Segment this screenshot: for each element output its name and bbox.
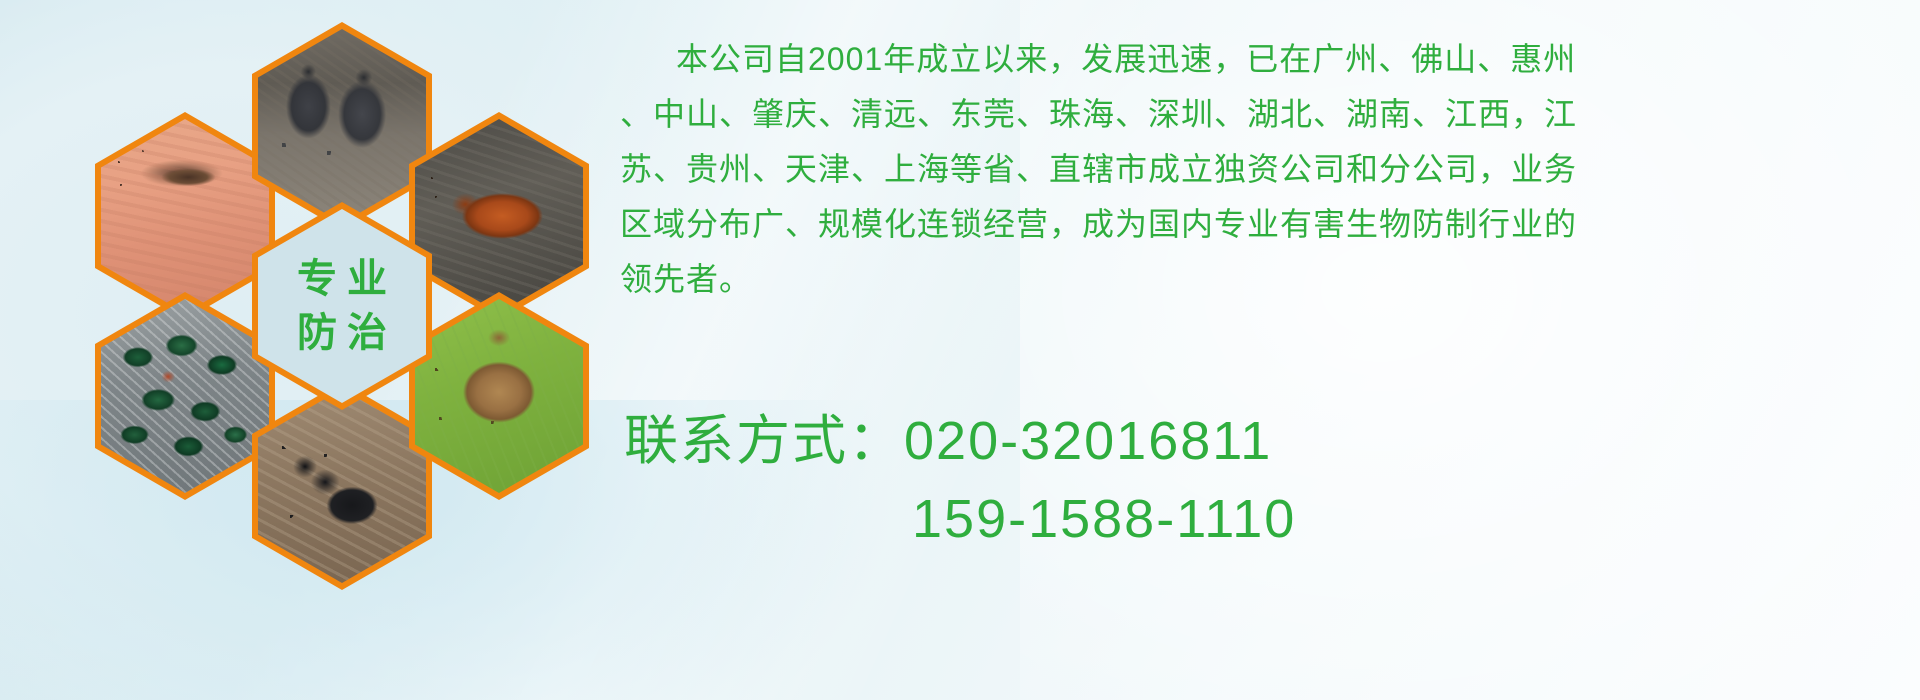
hex-inner-ant — [258, 389, 426, 583]
contact-line-landline[interactable]: 联系方式：020-32016811 — [624, 402, 1824, 480]
intro-line-3: 苏、贵州、天津、上海等省、直辖市成立独资公司和分公司，业务 — [620, 142, 1890, 197]
rats-photo — [258, 29, 426, 223]
logo-line-2: 防治 — [287, 306, 397, 360]
ant-photo — [258, 389, 426, 583]
mosquito-photo — [101, 119, 269, 313]
hex-inner-logo: 专业 防治 — [258, 209, 426, 403]
hex-cell-logo: 专业 防治 — [252, 202, 432, 410]
intro-line-1: 本公司自2001年成立以来，发展迅速，已在广州、佛山、惠州 — [620, 32, 1890, 87]
hex-inner-cockroach — [415, 119, 583, 313]
contact-info: 联系方式：020-32016811 159-1588-1110 — [624, 402, 1824, 558]
pest-control-banner: 专业 防治 本公司自2001年成立以来，发展迅速，已在广州、佛山、惠州 、中山、… — [0, 0, 1920, 700]
hex-cell-flies — [95, 292, 275, 500]
hex-cell-stink-bug — [409, 292, 589, 500]
logo-line-1: 专业 — [287, 252, 397, 306]
hex-cell-cockroach — [409, 112, 589, 320]
hex-inner-mosquito — [101, 119, 269, 313]
stink-bug-photo — [415, 299, 583, 493]
hex-cell-ant — [252, 382, 432, 590]
flies-photo — [101, 299, 269, 493]
cockroach-photo — [415, 119, 583, 313]
intro-line-2: 、中山、肇庆、清远、东莞、珠海、深圳、湖北、湖南、江西，江 — [620, 87, 1890, 142]
intro-line-5: 领先者。 — [620, 252, 1890, 307]
contact-line-mobile[interactable]: 159-1588-1110 — [624, 480, 1824, 558]
hex-inner-flies — [101, 299, 269, 493]
hexagon-photo-collage: 专业 防治 — [95, 8, 595, 568]
intro-line-4: 区域分布广、规模化连锁经营，成为国内专业有害生物防制行业的 — [620, 197, 1890, 252]
hex-cell-rats — [252, 22, 432, 230]
hex-cell-mosquito — [95, 112, 275, 320]
hex-inner-stink-bug — [415, 299, 583, 493]
company-intro-paragraph: 本公司自2001年成立以来，发展迅速，已在广州、佛山、惠州 、中山、肇庆、清远、… — [620, 32, 1890, 307]
hex-inner-rats — [258, 29, 426, 223]
